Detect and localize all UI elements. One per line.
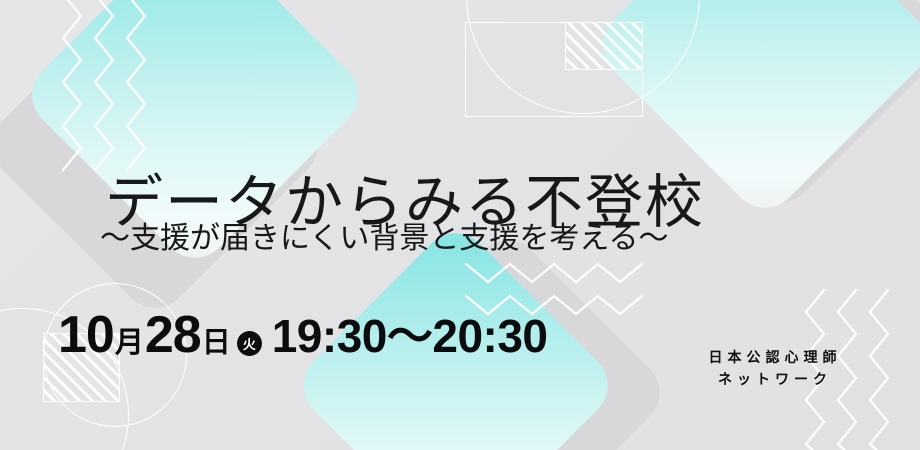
hatch-square-top-right xyxy=(565,22,643,70)
month-number: 10 xyxy=(58,309,114,361)
day-number: 28 xyxy=(145,309,201,361)
month-unit: 月 xyxy=(115,328,144,357)
logo-line-1: 日本公認心理師 xyxy=(700,348,850,370)
event-date-time: 10 月 28 日 火 19:30〜20:30 xyxy=(58,309,548,361)
organization-logo: 日本公認心理師 ネットワーク xyxy=(700,348,850,391)
event-banner: データからみる不登校 〜支援が届きにくい背景と支援を考える〜 10 月 28 日… xyxy=(0,0,920,450)
day-unit: 日 xyxy=(202,328,231,357)
time-range: 19:30〜20:30 xyxy=(272,313,548,359)
page-subtitle: 〜支援が届きにくい背景と支援を考える〜 xyxy=(100,224,669,254)
day-of-week-badge: 火 xyxy=(237,331,262,356)
logo-line-2: ネットワーク xyxy=(700,370,850,392)
zigzag-vertical-top-left xyxy=(57,0,177,184)
